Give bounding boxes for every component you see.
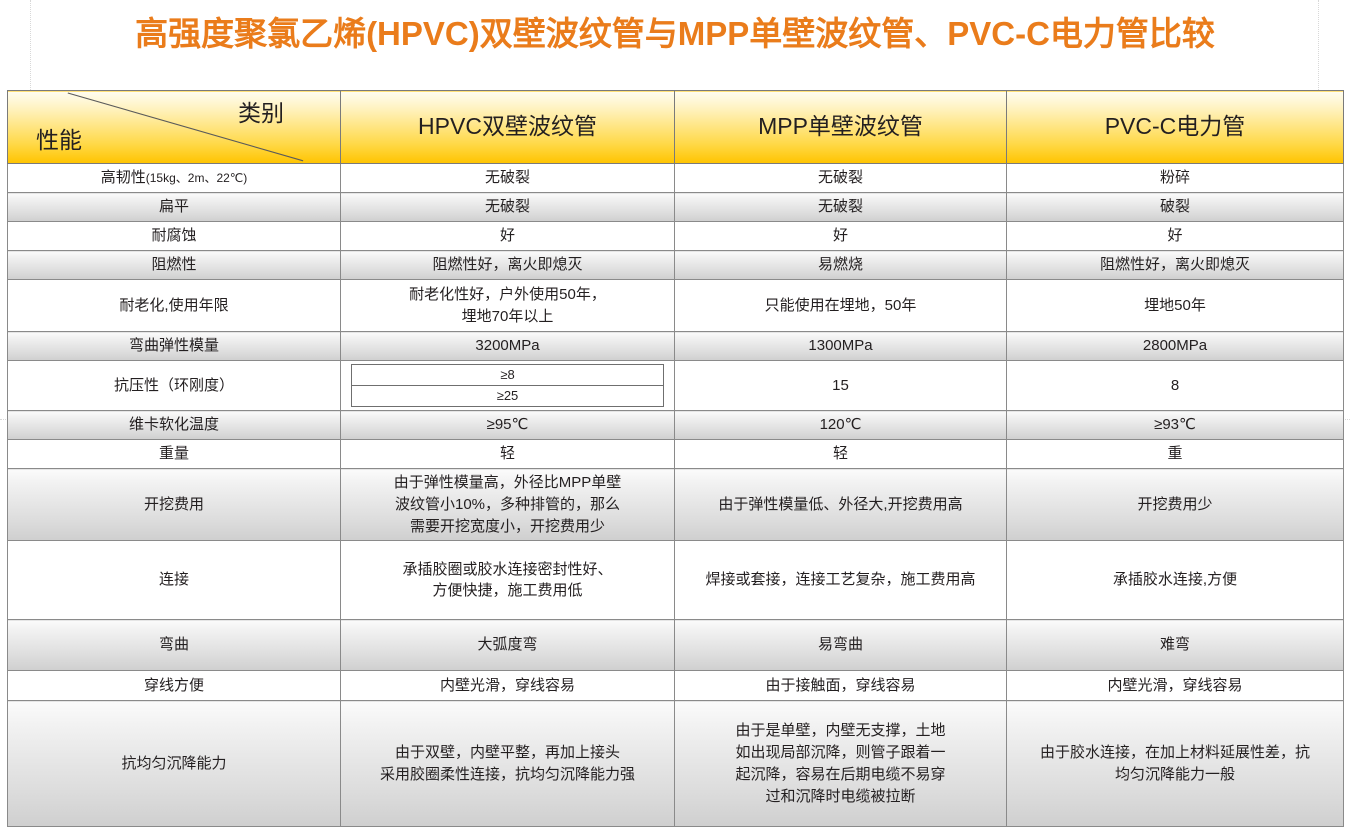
cell-mpp: 无破裂 bbox=[675, 164, 1007, 193]
row-property-label: 耐老化,使用年限 bbox=[8, 280, 341, 332]
row-property-label: 耐腐蚀 bbox=[8, 222, 341, 251]
cell-mpp: 轻 bbox=[675, 440, 1007, 469]
row-property-sublabel: (15kg、2m、22℃) bbox=[146, 171, 248, 185]
cell-hpvc: 承插胶圈或胶水连接密封性好、方便快捷，施工费用低 bbox=[341, 541, 675, 620]
cell-pvcc: 好 bbox=[1007, 222, 1344, 251]
cell-pvcc: 承插胶水连接,方便 bbox=[1007, 541, 1344, 620]
cell-pvcc: 粉碎 bbox=[1007, 164, 1344, 193]
cell-pvcc: ≥93℃ bbox=[1007, 411, 1344, 440]
cell-pvcc: 由于胶水连接，在加上材料延展性差，抗均匀沉降能力一般 bbox=[1007, 701, 1344, 827]
row-property-label: 扁平 bbox=[8, 193, 341, 222]
corner-performance-label: 性能 bbox=[36, 124, 82, 157]
cell-pvcc: 阻燃性好，离火即熄灭 bbox=[1007, 251, 1344, 280]
table-row: 耐老化,使用年限耐老化性好，户外使用50年，埋地70年以上只能使用在埋地，50年… bbox=[8, 280, 1344, 332]
row-property-label: 穿线方便 bbox=[8, 671, 341, 701]
cell-hpvc: 轻 bbox=[341, 440, 675, 469]
cell-hpvc: 耐老化性好，户外使用50年，埋地70年以上 bbox=[341, 280, 675, 332]
table-row: 高韧性(15kg、2m、22℃)无破裂无破裂粉碎 bbox=[8, 164, 1344, 193]
cell-pvcc: 2800MPa bbox=[1007, 332, 1344, 361]
cell-pvcc: 开挖费用少 bbox=[1007, 469, 1344, 541]
cell-pvcc: 破裂 bbox=[1007, 193, 1344, 222]
table-row: 重量轻轻重 bbox=[8, 440, 1344, 469]
cell-mpp: 焊接或套接，连接工艺复杂，施工费用高 bbox=[675, 541, 1007, 620]
table-row: 阻燃性阻燃性好，离火即熄灭易燃烧阻燃性好，离火即熄灭 bbox=[8, 251, 1344, 280]
cell-hpvc-split: ≥8≥25 bbox=[341, 361, 675, 411]
cell-mpp: 120℃ bbox=[675, 411, 1007, 440]
table-row: 扁平无破裂无破裂破裂 bbox=[8, 193, 1344, 222]
cell-mpp: 易燃烧 bbox=[675, 251, 1007, 280]
table-header-row: 类别性能HPVC双壁波纹管MPP单壁波纹管PVC-C电力管 bbox=[8, 91, 1344, 164]
cell-hpvc: ≥95℃ bbox=[341, 411, 675, 440]
cell-pvcc: 难弯 bbox=[1007, 620, 1344, 671]
row-property-label: 连接 bbox=[8, 541, 341, 620]
row-property-label: 重量 bbox=[8, 440, 341, 469]
cell-pvcc: 埋地50年 bbox=[1007, 280, 1344, 332]
table-row: 耐腐蚀好好好 bbox=[8, 222, 1344, 251]
row-property-label: 弯曲弹性模量 bbox=[8, 332, 341, 361]
cell-hpvc: 由于弹性模量高，外径比MPP单壁波纹管小10%，多种排管的，那么需要开挖宽度小，… bbox=[341, 469, 675, 541]
cell-pvcc: 重 bbox=[1007, 440, 1344, 469]
table-row: 连接承插胶圈或胶水连接密封性好、方便快捷，施工费用低焊接或套接，连接工艺复杂，施… bbox=[8, 541, 1344, 620]
column-header-2: MPP单壁波纹管 bbox=[675, 91, 1007, 164]
page-title: 高强度聚氯乙烯(HPVC)双壁波纹管与MPP单壁波纹管、PVC-C电力管比较 bbox=[0, 14, 1350, 54]
column-header-1: HPVC双壁波纹管 bbox=[341, 91, 675, 164]
cell-hpvc: 3200MPa bbox=[341, 332, 675, 361]
table-body: 类别性能HPVC双壁波纹管MPP单壁波纹管PVC-C电力管高韧性(15kg、2m… bbox=[8, 91, 1344, 827]
corner-category-label: 类别 bbox=[238, 97, 284, 130]
cell-pvcc: 内壁光滑，穿线容易 bbox=[1007, 671, 1344, 701]
comparison-table-container: 类别性能HPVC双壁波纹管MPP单壁波纹管PVC-C电力管高韧性(15kg、2m… bbox=[7, 90, 1343, 827]
column-header-3: PVC-C电力管 bbox=[1007, 91, 1344, 164]
row-property-label: 高韧性(15kg、2m、22℃) bbox=[8, 164, 341, 193]
row-property-label: 阻燃性 bbox=[8, 251, 341, 280]
cell-mpp: 由于弹性模量低、外径大,开挖费用高 bbox=[675, 469, 1007, 541]
cell-hpvc: 大弧度弯 bbox=[341, 620, 675, 671]
comparison-table: 类别性能HPVC双壁波纹管MPP单壁波纹管PVC-C电力管高韧性(15kg、2m… bbox=[7, 90, 1344, 827]
cell-mpp: 无破裂 bbox=[675, 193, 1007, 222]
cell-hpvc: 无破裂 bbox=[341, 164, 675, 193]
split-box: ≥8≥25 bbox=[351, 364, 664, 407]
table-row: 开挖费用由于弹性模量高，外径比MPP单壁波纹管小10%，多种排管的，那么需要开挖… bbox=[8, 469, 1344, 541]
cell-mpp: 1300MPa bbox=[675, 332, 1007, 361]
row-property-label: 抗压性（环刚度） bbox=[8, 361, 341, 411]
table-corner-cell: 类别性能 bbox=[8, 91, 341, 164]
cell-mpp: 由于接触面，穿线容易 bbox=[675, 671, 1007, 701]
table-row: 弯曲大弧度弯易弯曲难弯 bbox=[8, 620, 1344, 671]
cell-hpvc: 无破裂 bbox=[341, 193, 675, 222]
cell-hpvc: 由于双壁，内壁平整，再加上接头采用胶圈柔性连接，抗均匀沉降能力强 bbox=[341, 701, 675, 827]
row-property-label: 开挖费用 bbox=[8, 469, 341, 541]
table-row: 穿线方便内壁光滑，穿线容易由于接触面，穿线容易内壁光滑，穿线容易 bbox=[8, 671, 1344, 701]
cell-mpp: 易弯曲 bbox=[675, 620, 1007, 671]
table-row: 弯曲弹性模量3200MPa1300MPa2800MPa bbox=[8, 332, 1344, 361]
split-value-2: ≥25 bbox=[352, 386, 663, 406]
table-row: 抗压性（环刚度）≥8≥25158 bbox=[8, 361, 1344, 411]
table-row: 抗均匀沉降能力由于双壁，内壁平整，再加上接头采用胶圈柔性连接，抗均匀沉降能力强由… bbox=[8, 701, 1344, 827]
cell-hpvc: 内壁光滑，穿线容易 bbox=[341, 671, 675, 701]
cell-hpvc: 阻燃性好，离火即熄灭 bbox=[341, 251, 675, 280]
cell-mpp: 15 bbox=[675, 361, 1007, 411]
row-property-label: 抗均匀沉降能力 bbox=[8, 701, 341, 827]
cell-mpp: 只能使用在埋地，50年 bbox=[675, 280, 1007, 332]
cell-pvcc: 8 bbox=[1007, 361, 1344, 411]
cell-mpp: 好 bbox=[675, 222, 1007, 251]
cell-mpp: 由于是单壁，内壁无支撑，土地如出现局部沉降，则管子跟着一起沉降，容易在后期电缆不… bbox=[675, 701, 1007, 827]
cell-hpvc: 好 bbox=[341, 222, 675, 251]
row-property-label: 弯曲 bbox=[8, 620, 341, 671]
table-row: 维卡软化温度≥95℃120℃≥93℃ bbox=[8, 411, 1344, 440]
row-property-label: 维卡软化温度 bbox=[8, 411, 341, 440]
split-value-1: ≥8 bbox=[352, 365, 663, 386]
